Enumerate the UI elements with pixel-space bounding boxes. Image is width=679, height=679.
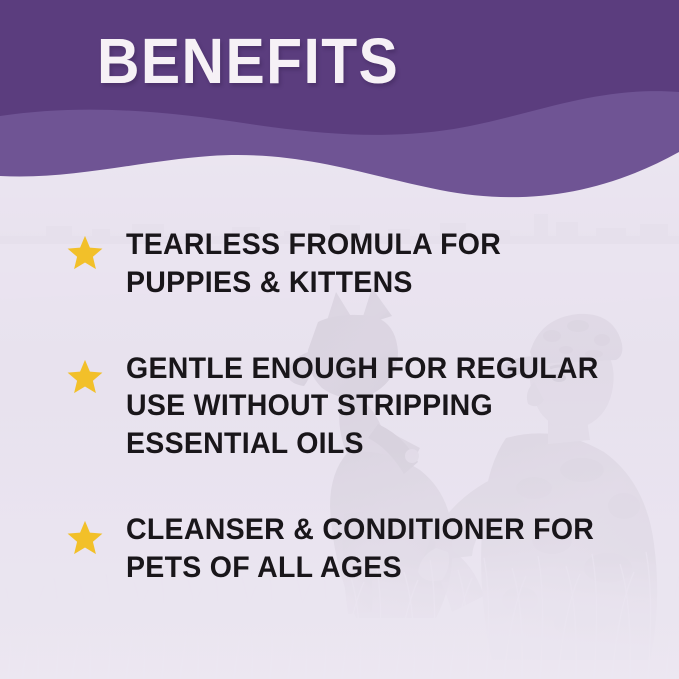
- benefit-text: GENTLE ENOUGH FOR REGULAR USE WITHOUT ST…: [126, 350, 630, 463]
- star-icon: [66, 358, 104, 396]
- benefits-infographic-card: BENEFITS TEARLESS FROMULA FOR PUPPIES & …: [0, 0, 679, 679]
- benefit-text: CLEANSER & CONDITIONER FOR PETS OF ALL A…: [126, 511, 630, 587]
- star-icon: [66, 519, 104, 557]
- benefit-text: TEARLESS FROMULA FOR PUPPIES & KITTENS: [126, 226, 630, 302]
- benefit-item: CLEANSER & CONDITIONER FOR PETS OF ALL A…: [0, 511, 679, 587]
- benefit-item: GENTLE ENOUGH FOR REGULAR USE WITHOUT ST…: [0, 350, 679, 463]
- page-title: BENEFITS: [97, 29, 399, 93]
- benefits-list: TEARLESS FROMULA FOR PUPPIES & KITTENS G…: [0, 226, 679, 635]
- star-icon: [66, 234, 104, 272]
- benefit-item: TEARLESS FROMULA FOR PUPPIES & KITTENS: [0, 226, 679, 302]
